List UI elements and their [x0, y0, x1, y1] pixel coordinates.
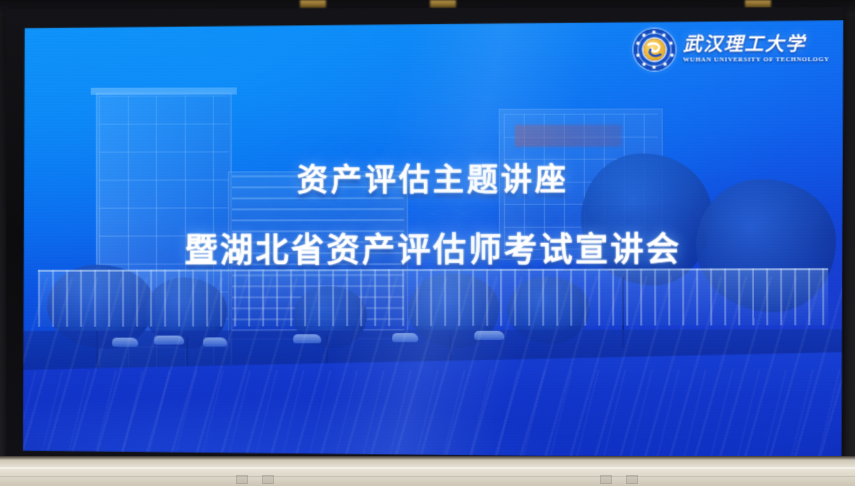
vignette-overlay — [22, 20, 845, 464]
wall-below-screen — [0, 456, 855, 486]
wall-socket-icon — [600, 475, 612, 484]
wall-trim-line — [0, 467, 855, 469]
ceiling-lamp-icon — [430, 0, 456, 8]
wall-socket-icon — [236, 475, 248, 484]
display-bezel: 武汉理工大学 WUHAN UNIVERSITY OF TECHNOLOGY 资产… — [6, 7, 845, 465]
ceiling-lamp-icon — [300, 0, 326, 8]
projection-screen: 武汉理工大学 WUHAN UNIVERSITY OF TECHNOLOGY 资产… — [22, 20, 845, 464]
room-photo: 武汉理工大学 WUHAN UNIVERSITY OF TECHNOLOGY 资产… — [0, 0, 855, 486]
wall-socket-icon — [262, 475, 274, 484]
wall-socket-icon — [626, 475, 638, 484]
wall-shadow-line — [0, 476, 855, 477]
